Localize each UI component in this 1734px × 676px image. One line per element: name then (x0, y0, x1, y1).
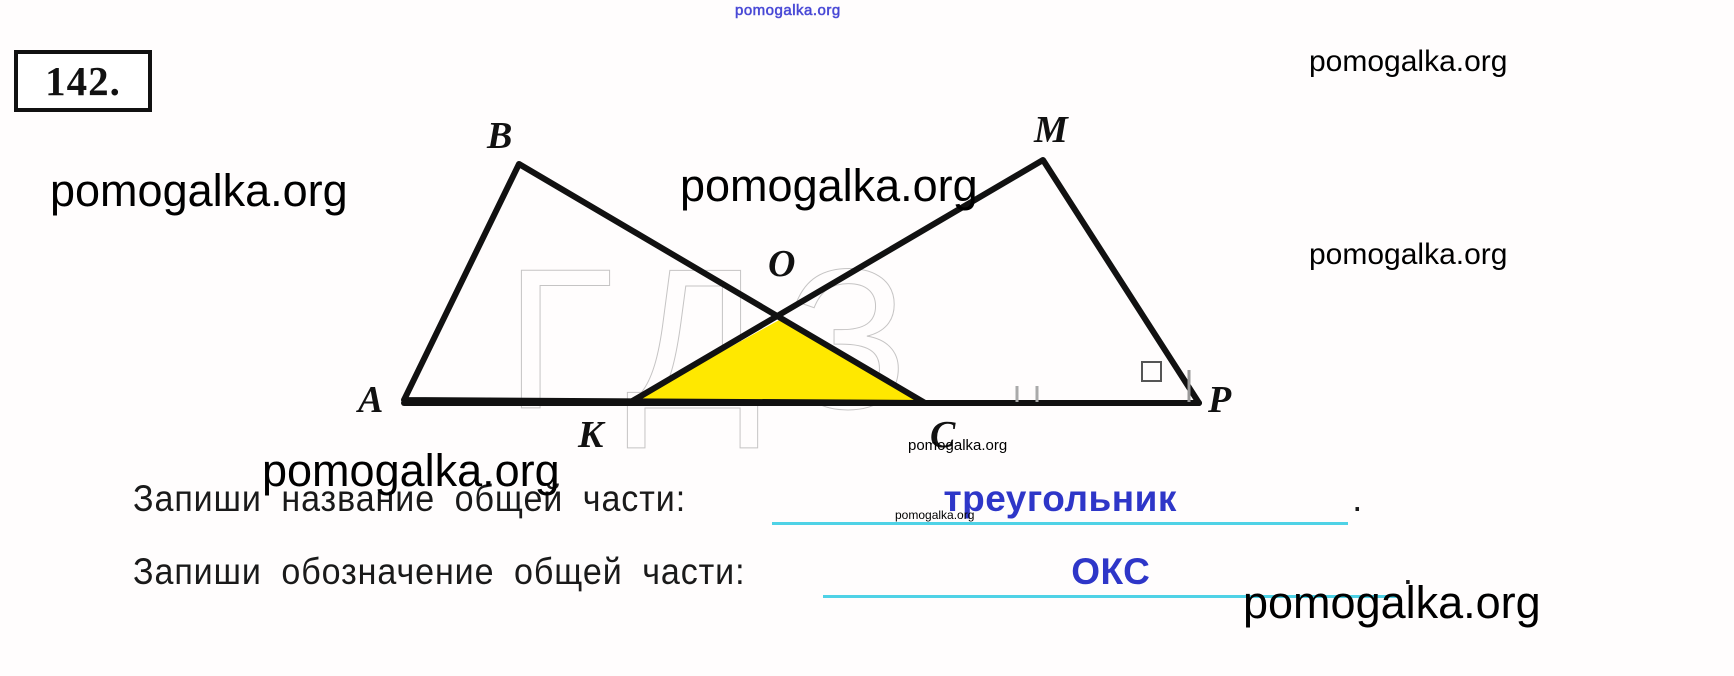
vertex-label-b: B (487, 114, 512, 158)
right-angle-marker (1142, 362, 1161, 381)
common-region-okc (629, 319, 925, 403)
vertex-label-m: M (1034, 108, 1068, 152)
vertex-label-c: C (930, 413, 955, 457)
geometry-figure: A B C K M P O (0, 90, 1420, 460)
vertex-label-k: K (578, 413, 603, 457)
brand-watermark: pomogalka.org (1309, 45, 1507, 79)
question-row-1: Запиши название общей части: треугольник… (133, 478, 1362, 525)
question-2-terminator: . (1403, 551, 1413, 593)
question-2-prompt: Запиши обозначение общей части: (133, 551, 745, 593)
answer-field-1[interactable]: треугольник (772, 478, 1348, 525)
question-1-terminator: . (1352, 478, 1362, 520)
brand-watermark: pomogalka.org (735, 2, 841, 19)
answer-1-value: треугольник (943, 478, 1176, 519)
answer-field-2[interactable]: ОКС (823, 551, 1399, 598)
answer-2-value: ОКС (1071, 551, 1150, 592)
question-1-prompt: Запиши название общей части: (133, 478, 686, 520)
vertex-label-o: O (768, 242, 795, 286)
question-row-2: Запиши обозначение общей части: ОКС . (133, 551, 1413, 598)
vertex-label-a: A (358, 378, 383, 422)
worksheet-page: ГДЗ 142. A B C K M P O (0, 0, 1734, 676)
vertex-label-p: P (1208, 378, 1231, 422)
